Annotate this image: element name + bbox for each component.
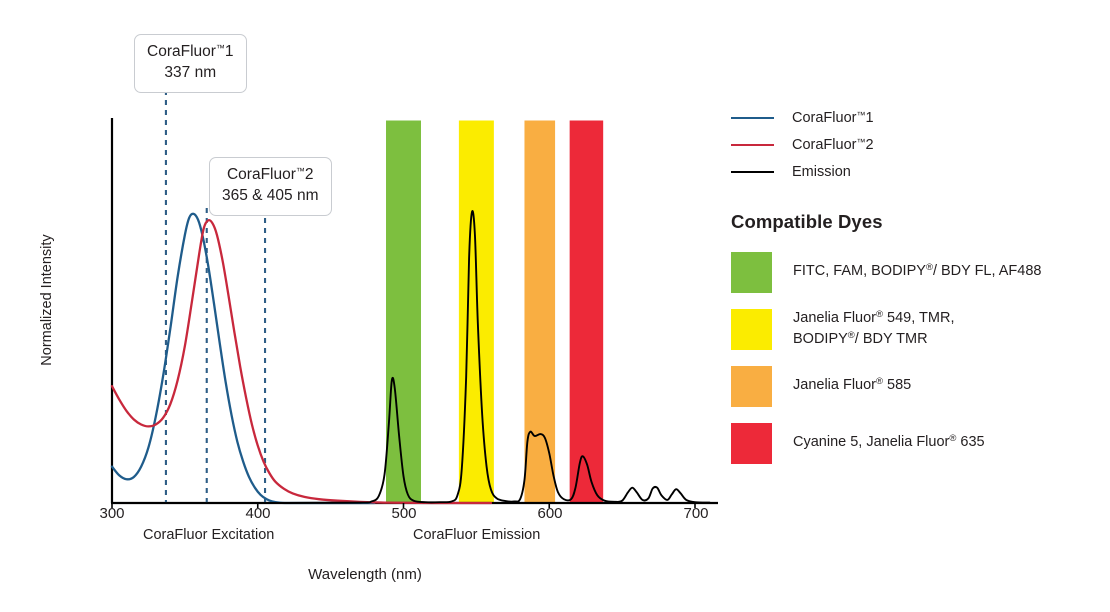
green-band <box>386 121 421 504</box>
dye-label: Janelia Fluor® 549, TMR,BODIPY®/ BDY TMR <box>793 308 954 350</box>
dye-row-4: Cyanine 5, Janelia Fluor® 635 <box>731 417 1110 469</box>
dye-label-line: BODIPY®/ BDY TMR <box>793 329 954 350</box>
y-axis-title: Normalized Intensity <box>39 220 55 380</box>
dye-color-swatch <box>731 252 772 293</box>
compatible-dyes-title: Compatible Dyes <box>731 211 1110 233</box>
dye-color-swatch <box>731 423 772 464</box>
region-label-emission: CoraFluor Emission <box>413 527 540 543</box>
red-band <box>570 121 604 504</box>
legend-line-swatch <box>731 117 774 119</box>
x-tick-300: 300 <box>82 505 142 522</box>
series-curve-1 <box>112 214 374 503</box>
legend-item-label: CoraFluor™1 <box>792 110 874 126</box>
chart-area: CoraFluor™1 337 nm CoraFluor™2 365 & 405… <box>0 0 730 612</box>
x-tick-700: 700 <box>666 505 726 522</box>
compatible-dyes-list: FITC, FAM, BODIPY®/ BDY FL, AF488Janelia… <box>731 246 1110 469</box>
legend-item-label: CoraFluor™2 <box>792 137 874 153</box>
legend: CoraFluor™1CoraFluor™2Emission Compatibl… <box>731 104 1110 474</box>
dye-label-line: Janelia Fluor® 549, TMR, <box>793 308 954 329</box>
callout-corafluor2: CoraFluor™2 365 & 405 nm <box>209 157 332 216</box>
x-tick-400: 400 <box>228 505 288 522</box>
legend-series-list: CoraFluor™1CoraFluor™2Emission <box>731 104 1110 185</box>
region-label-excitation: CoraFluor Excitation <box>143 527 274 543</box>
callout-corafluor1-line2: 337 nm <box>147 63 234 84</box>
dye-label-line: Janelia Fluor® 585 <box>793 375 911 396</box>
dye-row-2: Janelia Fluor® 549, TMR,BODIPY®/ BDY TMR <box>731 303 1110 355</box>
dye-color-swatch <box>731 309 772 350</box>
dye-label: Cyanine 5, Janelia Fluor® 635 <box>793 432 985 453</box>
legend-item-2: CoraFluor™2 <box>731 131 1110 158</box>
callout-corafluor1-line1: CoraFluor™1 <box>147 42 234 63</box>
legend-item-label: Emission <box>792 164 851 180</box>
legend-item-1: CoraFluor™1 <box>731 104 1110 131</box>
callout-corafluor2-line2: 365 & 405 nm <box>222 186 319 207</box>
dye-label: Janelia Fluor® 585 <box>793 375 911 396</box>
figure-root: CoraFluor™1 337 nm CoraFluor™2 365 & 405… <box>0 0 1110 612</box>
legend-line-swatch <box>731 144 774 146</box>
dye-row-3: Janelia Fluor® 585 <box>731 360 1110 412</box>
x-tick-500: 500 <box>374 505 434 522</box>
legend-item-3: Emission <box>731 158 1110 185</box>
series-curve-2 <box>112 220 491 503</box>
dye-label: FITC, FAM, BODIPY®/ BDY FL, AF488 <box>793 261 1041 282</box>
dye-label-line: Cyanine 5, Janelia Fluor® 635 <box>793 432 985 453</box>
x-axis-title: Wavelength (nm) <box>0 566 730 583</box>
callout-corafluor2-line1: CoraFluor™2 <box>222 165 319 186</box>
dye-label-line: FITC, FAM, BODIPY®/ BDY FL, AF488 <box>793 261 1041 282</box>
callout-corafluor1: CoraFluor™1 337 nm <box>134 34 247 93</box>
legend-line-swatch <box>731 171 774 173</box>
x-tick-600: 600 <box>520 505 580 522</box>
orange-band <box>524 121 555 504</box>
dye-row-1: FITC, FAM, BODIPY®/ BDY FL, AF488 <box>731 246 1110 298</box>
dye-color-swatch <box>731 366 772 407</box>
